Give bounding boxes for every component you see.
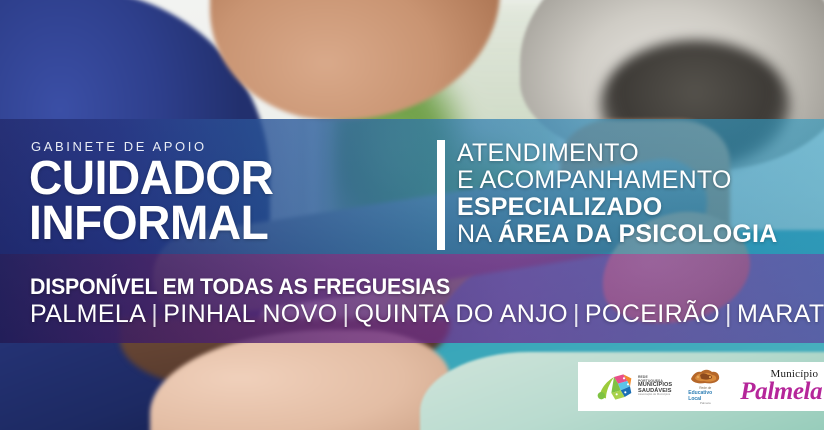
municipios-saudaveis-wordmark: REDE PORTUGUESA MUNICÍPIOS SAUDÁVEIS Ass… [638, 376, 672, 397]
vertical-divider [437, 140, 445, 250]
educativo-local-wordmark: Rede de Educativo Local Palmela [688, 387, 722, 406]
service-line-4-prefix: NA [457, 220, 498, 248]
rel-line-3: Palmela [700, 402, 711, 405]
palmela-wordmark: Palmela [740, 380, 822, 404]
service-line-2: E ACOMPANHAMENTO [457, 167, 807, 194]
service-line-4: NA ÁREA DA PSICOLOGIA [457, 221, 807, 248]
parishes-list: PALMELA|PINHAL NOVO|QUINTA DO ANJO|POCEI… [30, 300, 824, 329]
parish-name: PALMELA [30, 300, 146, 328]
logo-panel: REDE PORTUGUESA MUNICÍPIOS SAUDÁVEIS Ass… [578, 362, 824, 411]
parish-separator: | [146, 300, 163, 328]
parish-name: MARATECA [737, 300, 824, 328]
parish-name: QUINTA DO ANJO [354, 300, 568, 328]
parish-separator: | [568, 300, 585, 328]
logo-rede-municipios-saudaveis: REDE PORTUGUESA MUNICÍPIOS SAUDÁVEIS Ass… [594, 373, 672, 401]
campaign-banner: GABINETE DE APOIO CUIDADOR INFORMAL ATEN… [0, 0, 824, 430]
educativo-local-map-icon [688, 367, 722, 386]
rpms-line-5: Associação de Municípios [638, 394, 672, 397]
service-line-1: ATENDIMENTO [457, 140, 807, 167]
logo-municipio-palmela: Município Palmela [740, 369, 822, 404]
parish-separator: | [338, 300, 355, 328]
service-description: ATENDIMENTO E ACOMPANHAMENTO ESPECIALIZA… [457, 140, 807, 248]
service-line-3: ESPECIALIZADO [457, 194, 807, 221]
page-title: CUIDADOR INFORMAL [29, 156, 273, 246]
logo-rede-educativo-local: Rede de Educativo Local Palmela [688, 367, 722, 406]
availability-text: DISPONÍVEL EM TODAS AS FREGUESIAS [30, 274, 450, 300]
parish-name: PINHAL NOVO [163, 300, 337, 328]
parish-name: POCEIRÃO [585, 300, 720, 328]
service-line-4-emphasis: ÁREA DA PSICOLOGIA [498, 220, 778, 248]
parish-separator: | [720, 300, 737, 328]
municipios-saudaveis-icon [594, 373, 634, 401]
